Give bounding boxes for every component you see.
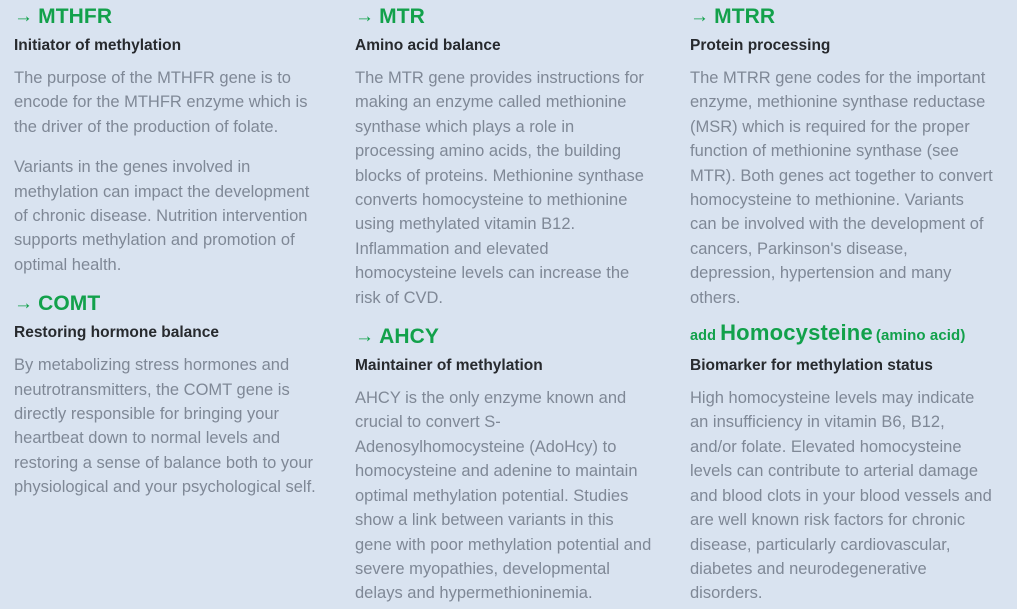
arrow-right-icon: → — [14, 4, 33, 30]
gene-panel: →MTHFR Initiator of methylation The purp… — [0, 0, 1017, 609]
gene-block-mtr: →MTR Amino acid balance The MTR gene pro… — [355, 4, 654, 310]
column-3: →MTRR Protein processing The MTRR gene c… — [678, 4, 1017, 606]
arrow-right-icon: → — [14, 291, 33, 317]
column-1: →MTHFR Initiator of methylation The purp… — [0, 4, 339, 500]
marker-block-homocysteine: addHomocysteine(amino acid) Biomarker fo… — [690, 320, 995, 606]
marker-main-word: Homocysteine — [720, 320, 873, 345]
gene-block-mtrr: →MTRR Protein processing The MTRR gene c… — [690, 4, 995, 310]
gene-subhead-mtrr: Protein processing — [690, 36, 995, 56]
marker-heading-homocysteine[interactable]: addHomocysteine(amino acid) — [690, 320, 995, 349]
column-2: →MTR Amino acid balance The MTR gene pro… — [339, 4, 678, 606]
gene-name-label: AHCY — [379, 324, 439, 350]
marker-body-paragraph: High homocysteine levels may indicate an… — [690, 386, 995, 606]
gene-heading-mtrr[interactable]: →MTRR — [690, 4, 995, 30]
gene-name-label: COMT — [38, 291, 100, 317]
arrow-right-icon: → — [355, 4, 374, 30]
gene-name-label: MTRR — [714, 4, 775, 30]
spacer — [690, 310, 995, 320]
gene-subhead-mtr: Amino acid balance — [355, 36, 654, 56]
gene-body-paragraph: The MTRR gene codes for the important en… — [690, 66, 995, 310]
marker-lead-word: add — [690, 328, 716, 344]
marker-suffix-word: (amino acid) — [876, 327, 966, 344]
gene-subhead-comt: Restoring hormone balance — [14, 323, 321, 343]
gene-heading-mtr[interactable]: →MTR — [355, 4, 654, 30]
arrow-right-icon: → — [690, 4, 709, 30]
gene-block-mthfr: →MTHFR Initiator of methylation The purp… — [14, 4, 321, 277]
gene-body-paragraph: Variants in the genes involved in methyl… — [14, 155, 321, 277]
gene-subhead-mthfr: Initiator of methylation — [14, 36, 321, 56]
arrow-right-icon: → — [355, 324, 374, 350]
gene-body-paragraph: AHCY is the only enzyme known and crucia… — [355, 386, 654, 606]
gene-body-paragraph: The MTR gene provides instructions for m… — [355, 66, 654, 310]
gene-heading-ahcy[interactable]: →AHCY — [355, 324, 654, 350]
gene-heading-mthfr[interactable]: →MTHFR — [14, 4, 321, 30]
gene-subhead-ahcy: Maintainer of methylation — [355, 356, 654, 376]
gene-body-paragraph: By metabolizing stress hormones and neut… — [14, 353, 321, 499]
gene-block-ahcy: →AHCY Maintainer of methylation AHCY is … — [355, 324, 654, 606]
gene-block-comt: →COMT Restoring hormone balance By metab… — [14, 291, 321, 499]
gene-heading-comt[interactable]: →COMT — [14, 291, 321, 317]
marker-subhead-homocysteine: Biomarker for methylation status — [690, 356, 995, 376]
gene-name-label: MTHFR — [38, 4, 112, 30]
gene-name-label: MTR — [379, 4, 425, 30]
gene-body-paragraph: The purpose of the MTHFR gene is to enco… — [14, 66, 321, 139]
